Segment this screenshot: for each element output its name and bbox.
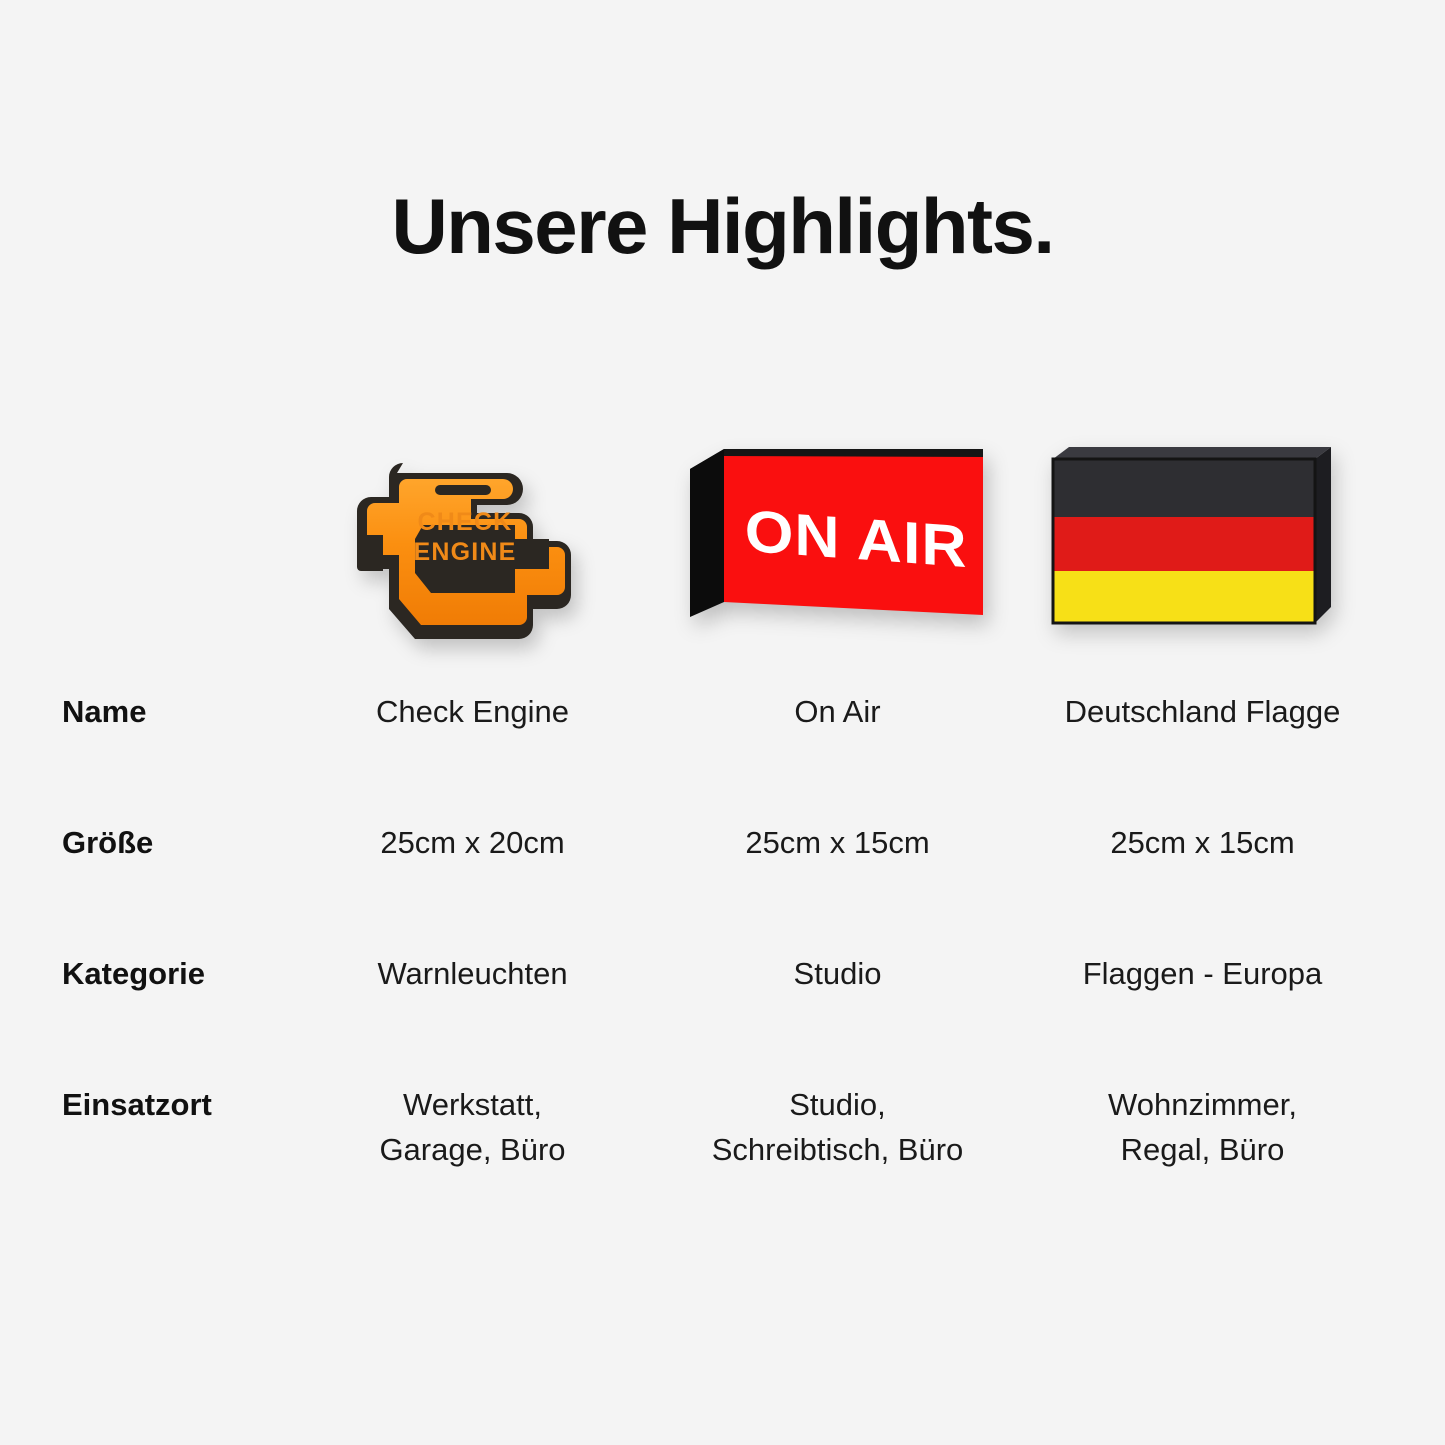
cell-name-deutschland-flagge: Deutschland Flagge — [1020, 690, 1385, 735]
product-image-check-engine[interactable]: CHECK ENGINE — [290, 412, 640, 662]
table-row: Name Check Engine On Air Deutschland Fla… — [0, 690, 1445, 821]
highlights-page: Unsere Highlights. — [0, 0, 1445, 1445]
product-image-on-air[interactable]: ON AIR — [655, 412, 1005, 662]
table-row: Einsatzort Werkstatt, Garage, Büro Studi… — [0, 1083, 1445, 1243]
cell-location-check-engine: Werkstatt, Garage, Büro — [290, 1083, 655, 1173]
cell-category-on-air: Studio — [655, 952, 1020, 997]
cell-size-deutschland-flagge: 25cm x 15cm — [1020, 821, 1385, 866]
cell-name-check-engine: Check Engine — [290, 690, 655, 735]
spec-table: Name Check Engine On Air Deutschland Fla… — [0, 690, 1445, 1243]
cell-name-on-air: On Air — [655, 690, 1020, 735]
row-label-name: Name — [0, 690, 290, 735]
product-image-deutschland-flagge[interactable] — [1020, 412, 1370, 662]
cell-size-on-air: 25cm x 15cm — [655, 821, 1020, 866]
german-flag-lightbox-icon — [1043, 437, 1348, 637]
product-image-row: CHECK ENGINE ON AIR — [0, 412, 1445, 662]
cell-location-on-air: Studio, Schreibtisch, Büro — [655, 1083, 1020, 1173]
page-title: Unsere Highlights. — [0, 184, 1445, 270]
row-label-einsatzort: Einsatzort — [0, 1083, 290, 1128]
cell-location-deutschland-flagge: Wohnzimmer, Regal, Büro — [1020, 1083, 1385, 1173]
cell-category-deutschland-flagge: Flaggen - Europa — [1020, 952, 1385, 997]
table-row: Kategorie Warnleuchten Studio Flaggen - … — [0, 952, 1445, 1083]
cell-size-check-engine: 25cm x 20cm — [290, 821, 655, 866]
table-row: Größe 25cm x 20cm 25cm x 15cm 25cm x 15c… — [0, 821, 1445, 952]
cell-category-check-engine: Warnleuchten — [290, 952, 655, 997]
row-label-kategorie: Kategorie — [0, 952, 290, 997]
check-engine-icon: CHECK ENGINE — [315, 427, 615, 647]
row-label-groesse: Größe — [0, 821, 290, 866]
on-air-lightbox-icon: ON AIR — [678, 437, 983, 637]
